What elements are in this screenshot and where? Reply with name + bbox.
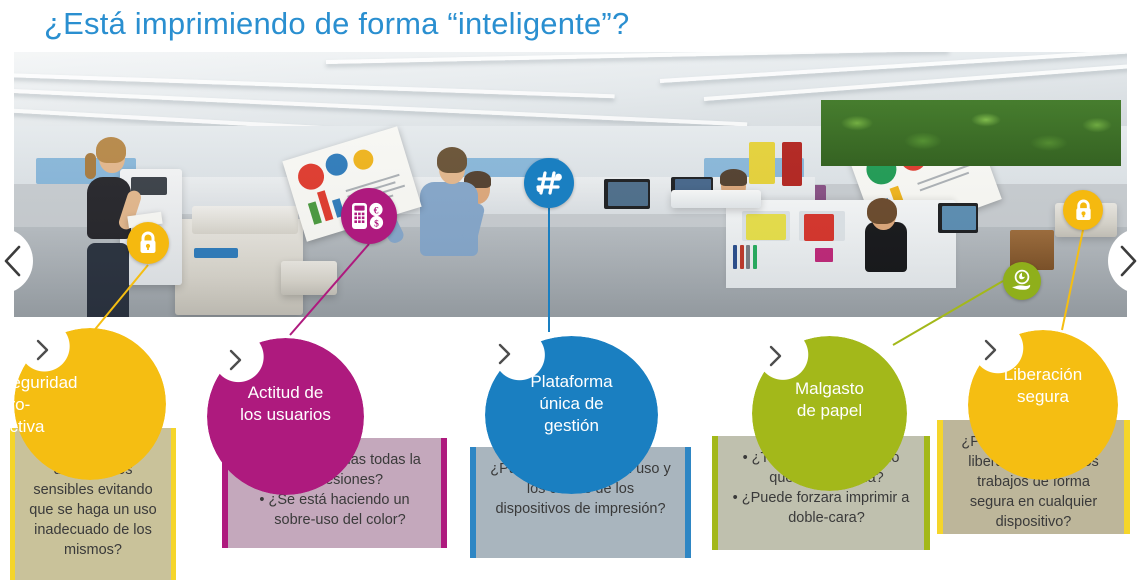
book xyxy=(733,245,737,269)
chart-blob xyxy=(295,161,327,193)
chevron-right-icon xyxy=(1117,244,1139,278)
person-hair xyxy=(437,147,467,173)
monitor-screen xyxy=(942,206,976,230)
yellow-wall-panel xyxy=(749,142,775,184)
card-bullet: • ¿Puede forzara imprimir a doble-cara? xyxy=(731,488,911,528)
network-nodes-icon xyxy=(534,168,564,198)
card-chevron-icon[interactable] xyxy=(35,338,51,367)
card-chevron-icon[interactable] xyxy=(983,338,999,367)
chevron-left-icon xyxy=(2,244,24,278)
yellow-storage-box xyxy=(746,214,786,240)
monitor-screen xyxy=(608,182,648,206)
foliage-wall-graphic xyxy=(821,100,1122,166)
card-chevron-icon[interactable] xyxy=(228,348,244,377)
svg-text:$: $ xyxy=(374,218,379,229)
badge-user-attitude[interactable]: € $ xyxy=(341,188,397,244)
card-chevron-icon[interactable] xyxy=(768,344,784,373)
chevron-right-icon xyxy=(35,338,51,362)
book xyxy=(746,245,750,269)
book xyxy=(740,245,744,269)
badge-security-left[interactable] xyxy=(127,222,169,264)
book xyxy=(753,245,757,269)
person-ponytail xyxy=(85,153,96,179)
padlock-icon xyxy=(137,231,159,255)
card-chevron-icon[interactable] xyxy=(497,342,513,371)
cards-row: ¿Puede proteger documentos sensibles evi… xyxy=(0,316,1141,580)
page-title: ¿Está imprimiendo de forma “inteligente”… xyxy=(44,2,1104,46)
person-legs xyxy=(87,243,129,317)
badge-platform[interactable] xyxy=(524,158,574,208)
seated-worker-hair xyxy=(720,169,747,186)
countertop xyxy=(671,190,761,208)
printer-control-panel xyxy=(194,248,238,258)
chevron-right-icon xyxy=(228,348,244,372)
badge-paper-waste[interactable] xyxy=(1003,262,1041,300)
presentation-slide: ¿Está imprimiendo de forma “inteligente”… xyxy=(0,0,1141,580)
red-door xyxy=(782,142,802,186)
chart-blob xyxy=(323,151,350,178)
chevron-right-icon xyxy=(983,338,999,362)
chevron-right-icon xyxy=(768,344,784,368)
seated-worker-hair xyxy=(867,198,897,224)
person-hair xyxy=(96,137,126,163)
svg-text:€: € xyxy=(374,206,379,216)
printer-scanner-lid xyxy=(192,206,298,234)
printer-output-tray xyxy=(281,261,337,295)
chart-blob xyxy=(351,147,376,172)
badge-secure-release[interactable] xyxy=(1063,190,1103,230)
chevron-right-icon xyxy=(497,342,513,366)
eco-hand-leaf-icon xyxy=(1009,268,1035,294)
shelf-item xyxy=(815,248,833,262)
padlock-icon xyxy=(1073,199,1094,222)
red-storage-box xyxy=(804,214,834,241)
card-bullet: • ¿Se está haciendo un sobre-uso del col… xyxy=(241,490,428,530)
cost-calculator-icon: € $ xyxy=(351,201,387,231)
